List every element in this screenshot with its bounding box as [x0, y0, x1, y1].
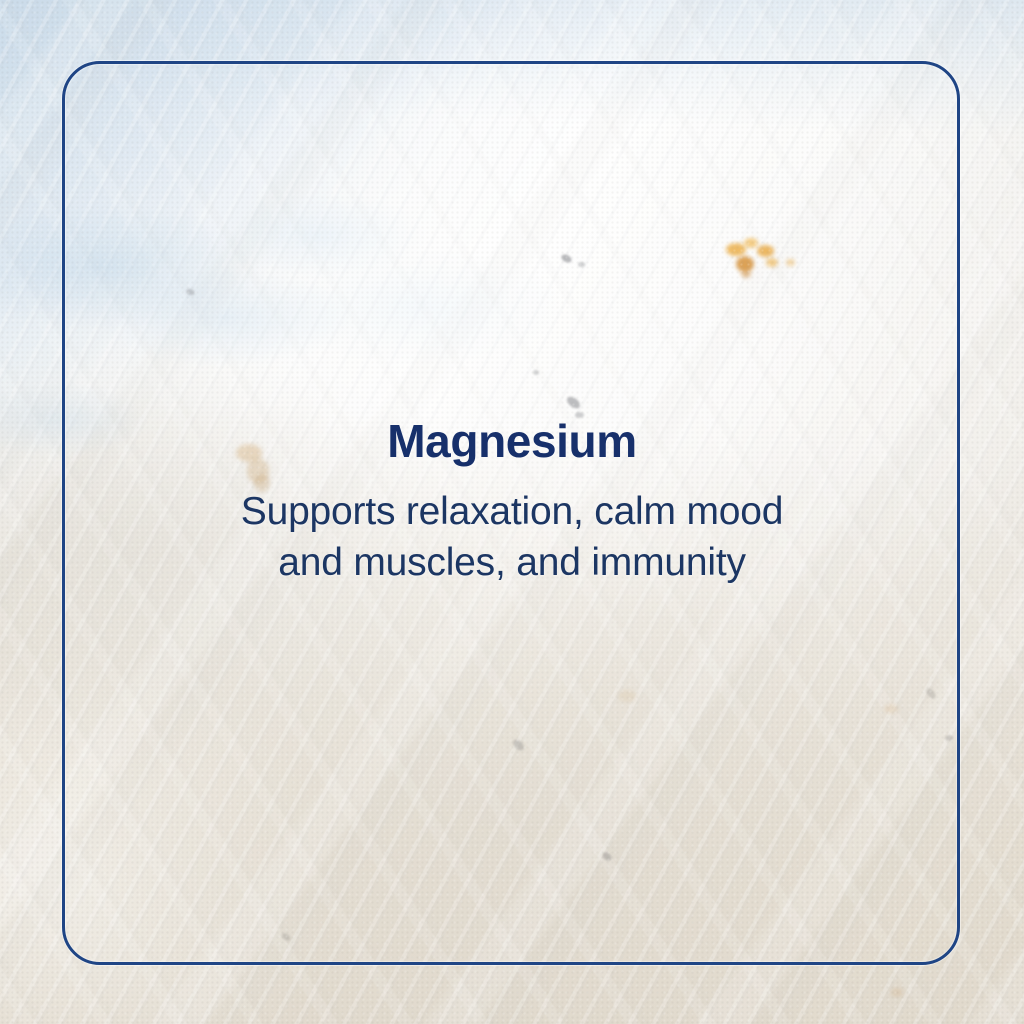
rounded-border-frame	[62, 61, 960, 965]
product-benefit-card: Magnesium Supports relaxation, calm mood…	[0, 0, 1024, 1024]
text-block: Magnesium Supports relaxation, calm mood…	[0, 418, 1024, 588]
background-cool-crystal-plane	[0, 0, 1024, 1024]
background-grain	[0, 0, 1024, 1024]
background-striations-primary	[0, 0, 1024, 1024]
background-iridescent-tints	[0, 0, 1024, 1024]
background-white-crystal-wedge	[0, 0, 1024, 1024]
background-crystal-facets	[0, 0, 1024, 1024]
background-base-gradient	[0, 0, 1024, 1024]
background-striations-secondary	[0, 0, 1024, 1024]
card-subtitle: Supports relaxation, calm mood and muscl…	[0, 486, 1024, 588]
background-warm-lower-mass	[0, 0, 1024, 1024]
background-crystal-bands	[0, 0, 1024, 1024]
card-subtitle-line-1: Supports relaxation, calm mood	[0, 486, 1024, 537]
background-vignette	[0, 0, 1024, 1024]
card-subtitle-line-2: and muscles, and immunity	[0, 537, 1024, 588]
card-title: Magnesium	[0, 418, 1024, 464]
background-mineral-flecks	[0, 0, 1024, 1024]
background-amber-inclusions	[0, 0, 1024, 1024]
